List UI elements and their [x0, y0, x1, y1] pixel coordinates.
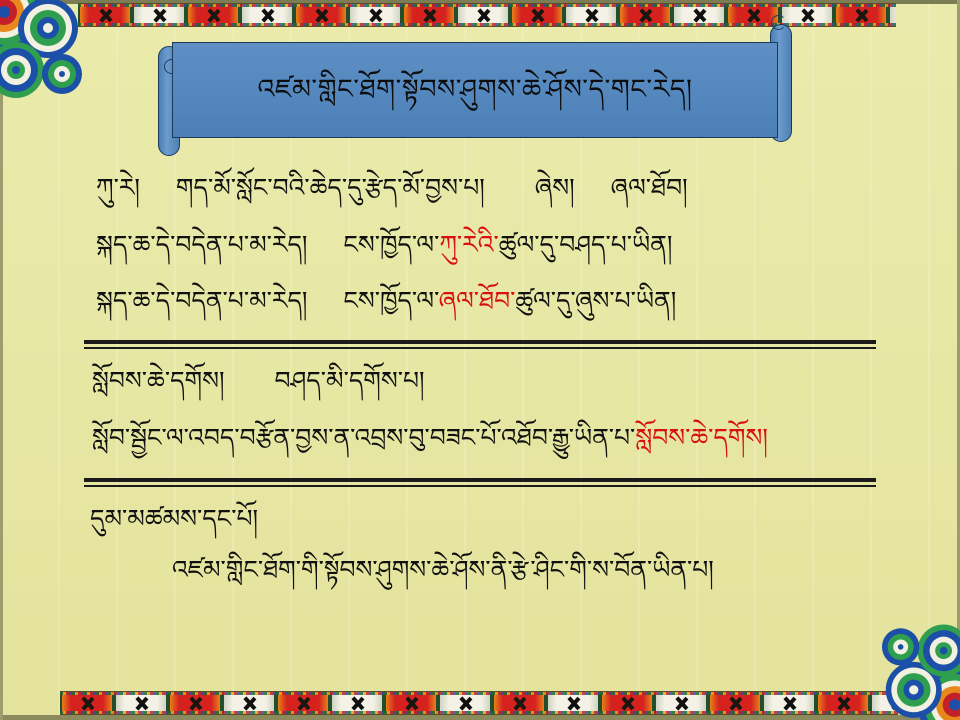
cross-motif-icon: [728, 696, 743, 711]
cross-motif-icon: [674, 696, 689, 711]
cross-motif-icon: [206, 8, 221, 23]
cross-motif-icon: [800, 8, 815, 23]
cross-motif-icon: [458, 696, 473, 711]
line1-part-d: ཞལ་ཐོབ།: [611, 173, 688, 202]
textile-border-bottom: [60, 691, 898, 715]
cross-motif-icon: [512, 696, 527, 711]
section-one-line-1: ཀུ་རེ། གད་མོ་སློང་བའི་ཆེད་དུ་རྩེད་མོ་བྱས…: [96, 170, 960, 206]
line1-part-c: ཞེས།: [535, 173, 575, 202]
cross-motif-icon: [530, 8, 545, 23]
line3-part-a: སྐད་ཆ་དེ་བདེན་པ་མ་རེད།: [96, 286, 307, 315]
line2-highlight: ཀུ་རེའི་: [439, 230, 498, 259]
cross-motif-icon: [746, 8, 761, 23]
section-one-line-2: སྐད་ཆ་དེ་བདེན་པ་མ་རེད། ངས་ཁྱོད་ལ་ཀུ་རེའི…: [96, 227, 960, 263]
line2-part-a: སྐད་ཆ་དེ་བདེན་པ་མ་རེད།: [96, 230, 307, 259]
frame-edge-bottom: [0, 715, 960, 720]
section-one-line-3: སྐད་ཆ་དེ་བདེན་པ་མ་རེད། ངས་ཁྱོད་ལ་ཞལ་ཐོབ་…: [96, 283, 960, 319]
line1-part-a: ཀུ་རེ།: [96, 173, 140, 202]
divider-rule: [84, 478, 876, 487]
spiral-cloud-ornament-bottom-right: [854, 604, 960, 720]
cross-motif-icon: [134, 696, 149, 711]
cross-motif-icon: [296, 696, 311, 711]
line3-part-b: ངས་ཁྱོད་ལ་: [343, 286, 438, 315]
section-three-heading: དུམ་མཚམས་དང་པོ།: [90, 501, 960, 537]
cross-motif-icon: [260, 8, 275, 23]
s2-line2-highlight: སློབས་ཆེ་དགོས།: [635, 423, 768, 452]
cross-motif-icon: [782, 696, 797, 711]
line2-part-c: ཚུལ་དུ་བཤད་པ་ཡིན།: [499, 230, 673, 259]
s2-line1-part-a: སློབས་ཆེ་དགོས།: [92, 366, 225, 395]
cross-motif-icon: [566, 696, 581, 711]
cross-motif-icon: [638, 8, 653, 23]
slide-content: ཀུ་རེ། གད་མོ་སློང་བའི་ཆེད་དུ་རྩེད་མོ་བྱས…: [0, 170, 960, 588]
cross-motif-icon: [854, 8, 869, 23]
textile-piping: [60, 692, 898, 695]
divider-rule: [84, 340, 876, 349]
cross-motif-icon: [422, 8, 437, 23]
section-one: ཀུ་རེ། གད་མོ་སློང་བའི་ཆེད་དུ་རྩེད་མོ་བྱས…: [0, 170, 960, 319]
section-three: དུམ་མཚམས་དང་པོ། འཛམ་གླིང་ཐོག་གི་སྟོབས་ཤུ…: [0, 501, 960, 588]
cross-motif-icon: [242, 696, 257, 711]
section-three-body: འཛམ་གླིང་ཐོག་གི་སྟོབས་ཤུགས་ཆེ་ཤོས་ནི་རྩེ…: [90, 552, 960, 588]
scroll-curl-icon: [771, 15, 786, 30]
spiral-cloud-icon: [0, 0, 112, 120]
cross-motif-icon: [692, 8, 707, 23]
cross-motif-icon: [836, 696, 851, 711]
slide-title: འཛམ་གླིང་ཐོག་སྟོབས་ཤུགས་ཆེ་ཤོས་དེ་གང་རེད…: [173, 43, 777, 137]
s2-line1-part-b: བཤད་མི་དགོས་པ།: [274, 366, 424, 395]
title-banner: འཛམ་གླིང་ཐོག་སྟོབས་ཤུགས་ཆེ་ཤོས་དེ་གང་རེད…: [158, 42, 792, 138]
section-divider-2: [0, 478, 960, 487]
cross-motif-icon: [620, 696, 635, 711]
textile-piping: [78, 4, 896, 7]
spiral-cloud-ornament-top-left: [0, 0, 112, 124]
title-banner-body: འཛམ་གླིང་ཐོག་སྟོབས་ཤུགས་ཆེ་ཤོས་དེ་གང་རེད…: [172, 42, 778, 138]
section-two-line-2: སློབ་སྦྱོང་ལ་འབད་བརྩོན་བྱས་ན་འབྲས་བུ་བཟང…: [92, 420, 960, 456]
cross-motif-icon: [80, 696, 95, 711]
cross-motif-icon: [404, 696, 419, 711]
line2-part-b: ངས་ཁྱོད་ལ་: [343, 230, 439, 259]
s2-line2-part-a: སློབ་སྦྱོང་ལ་འབད་བརྩོན་བྱས་ན་འབྲས་བུ་བཟང…: [92, 423, 635, 452]
line3-highlight: ཞལ་ཐོབ་: [439, 286, 516, 315]
cross-motif-icon: [476, 8, 491, 23]
cross-motif-icon: [584, 8, 599, 23]
line1-part-b: གད་མོ་སློང་བའི་ཆེད་དུ་རྩེད་མོ་བྱས་པ།: [176, 173, 485, 202]
spiral-cloud-icon: [854, 604, 960, 720]
section-two: སློབས་ཆེ་དགོས། བཤད་མི་དགོས་པ། སློབ་སྦྱོང…: [0, 363, 960, 456]
cross-motif-icon: [314, 8, 329, 23]
slide-canvas: འཛམ་གླིང་ཐོག་སྟོབས་ཤུགས་ཆེ་ཤོས་དེ་གང་རེད…: [0, 0, 960, 720]
cross-motif-icon: [350, 696, 365, 711]
section-two-line-1: སློབས་ཆེ་དགོས། བཤད་མི་དགོས་པ།: [92, 363, 960, 399]
textile-piping: [60, 711, 898, 714]
cross-motif-icon: [368, 8, 383, 23]
cross-motif-icon: [152, 8, 167, 23]
line3-part-c: ཚུལ་དུ་ཞུས་པ་ཡིན།: [515, 286, 676, 315]
section-divider-1: [0, 340, 960, 349]
cross-motif-icon: [188, 696, 203, 711]
